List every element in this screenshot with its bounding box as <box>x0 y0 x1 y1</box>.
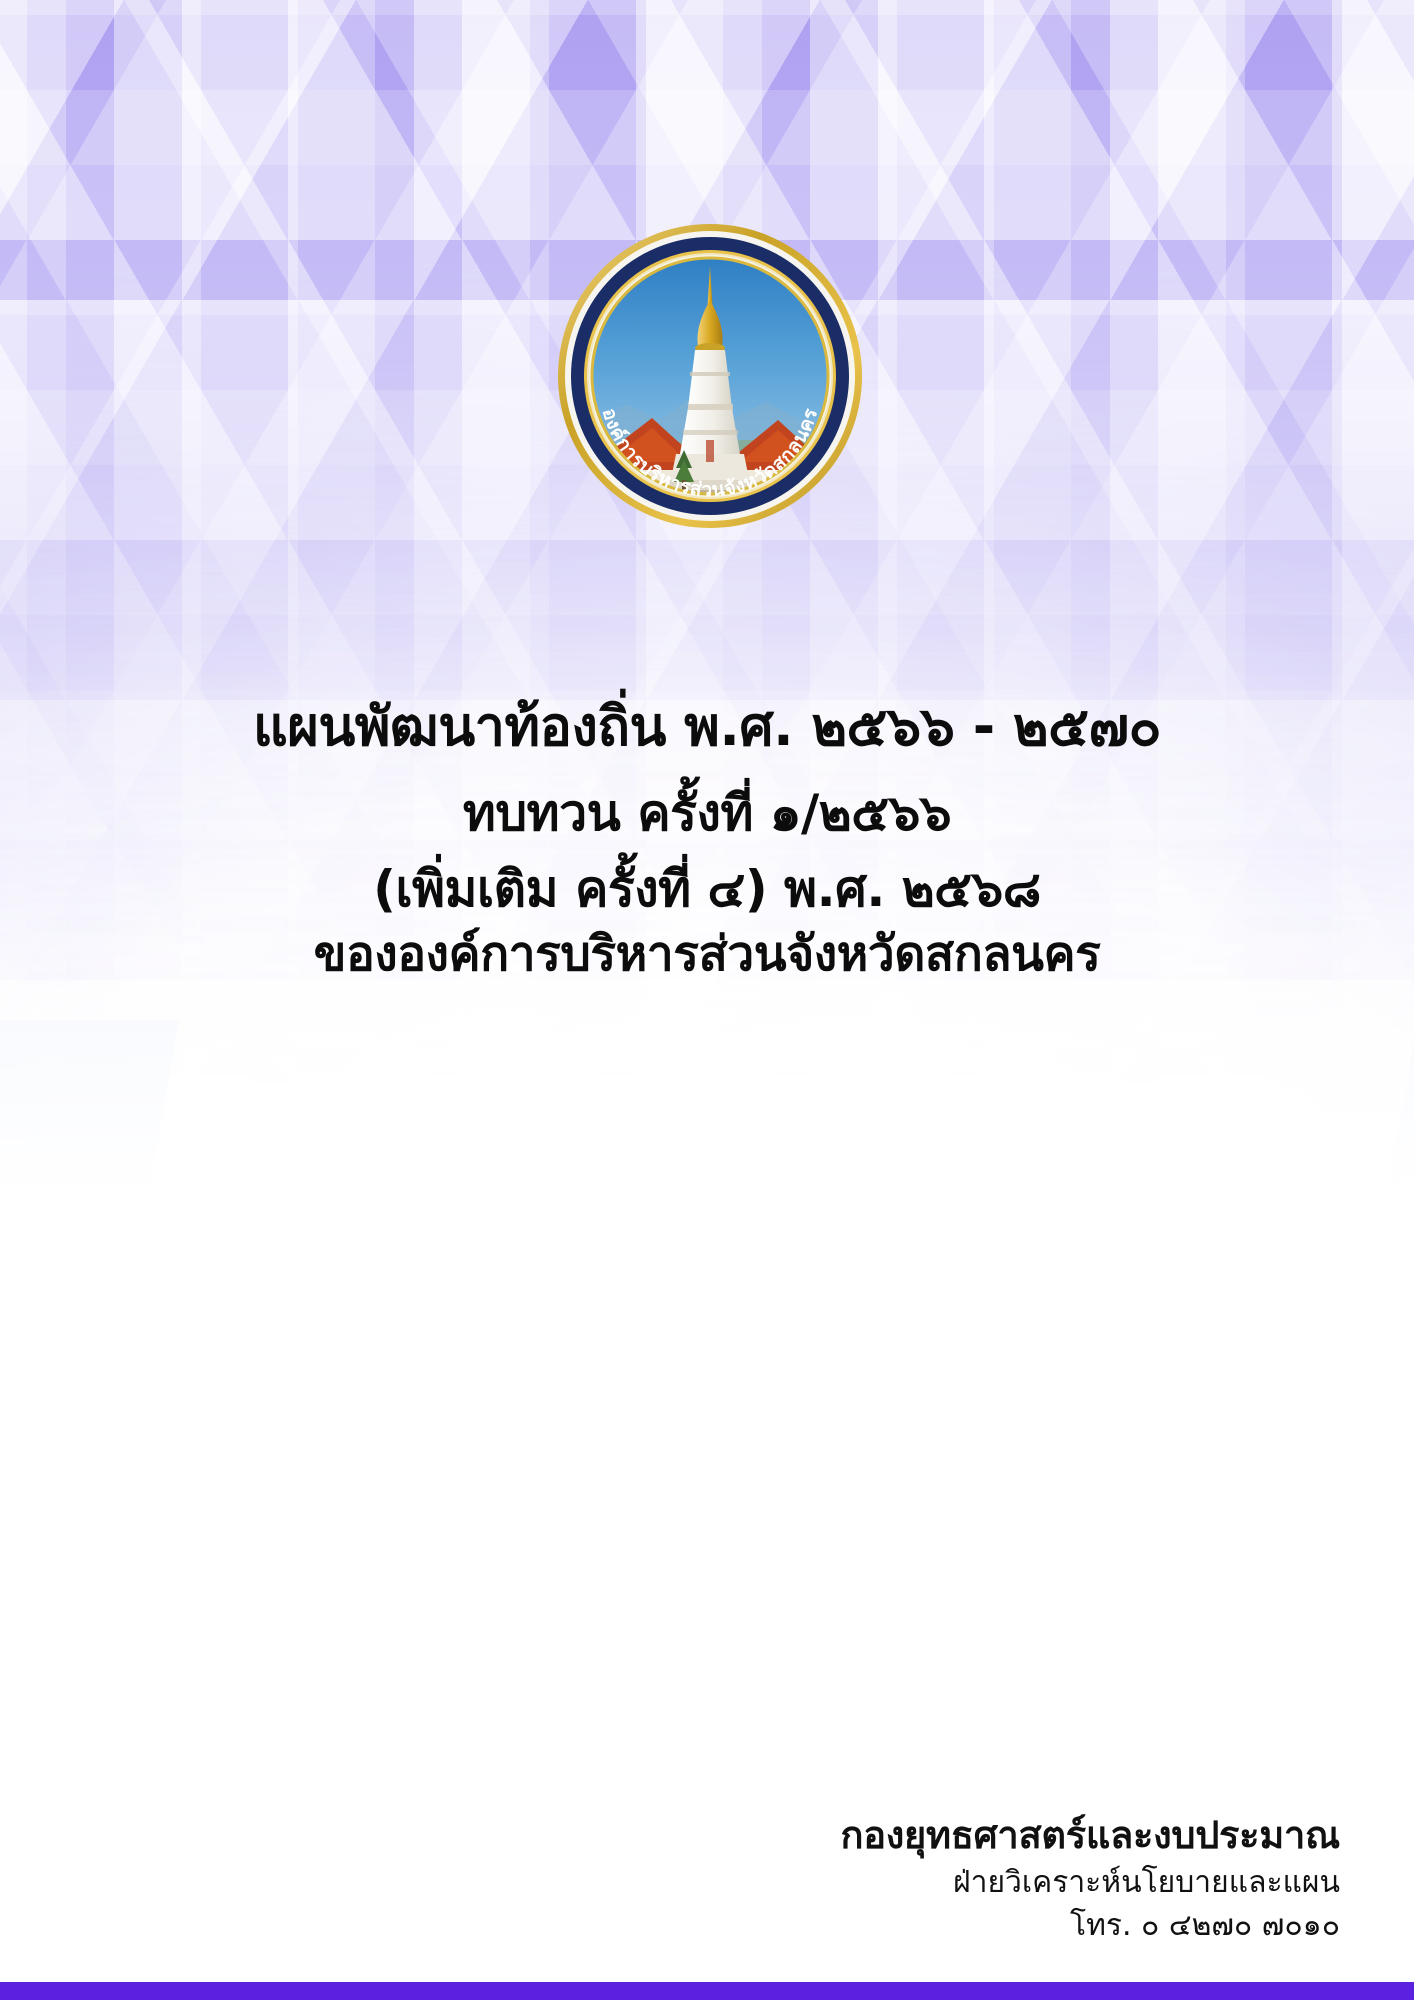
footer-division: ฝ่ายวิเคราะห์นโยบายและแผน <box>841 1863 1340 1902</box>
footer-organization: กองยุทธศาสตร์และงบประมาณ <box>841 1814 1340 1857</box>
footer-telephone: โทร. ๐ ๔๒๗๐ ๗๐๑๐ <box>841 1906 1340 1945</box>
document-title-block: แผนพัฒนาท้องถิ่น พ.ศ. ๒๕๖๖ - ๒๕๗๐ ทบทวน … <box>0 700 1414 978</box>
footer-block: กองยุทธศาสตร์และงบประมาณ ฝ่ายวิเคราะห์นโ… <box>841 1814 1340 1945</box>
cover-page: องค์การบริหารส่วนจังหวัดสกลนคร แผนพัฒนาท… <box>0 0 1414 2000</box>
title-line-2: ทบทวน ครั้งที่ ๑/๒๕๖๖ <box>0 788 1414 838</box>
organization-seal-emblem: องค์การบริหารส่วนจังหวัดสกลนคร <box>556 222 864 530</box>
bottom-accent-bar <box>0 1982 1414 2000</box>
title-line-3: (เพิ่มเติม ครั้งที่ ๔) พ.ศ. ๒๕๖๘ <box>0 864 1414 914</box>
title-line-1: แผนพัฒนาท้องถิ่น พ.ศ. ๒๕๖๖ - ๒๕๗๐ <box>0 700 1414 754</box>
title-line-4: ขององค์การบริหารส่วนจังหวัดสกลนคร <box>0 930 1414 978</box>
